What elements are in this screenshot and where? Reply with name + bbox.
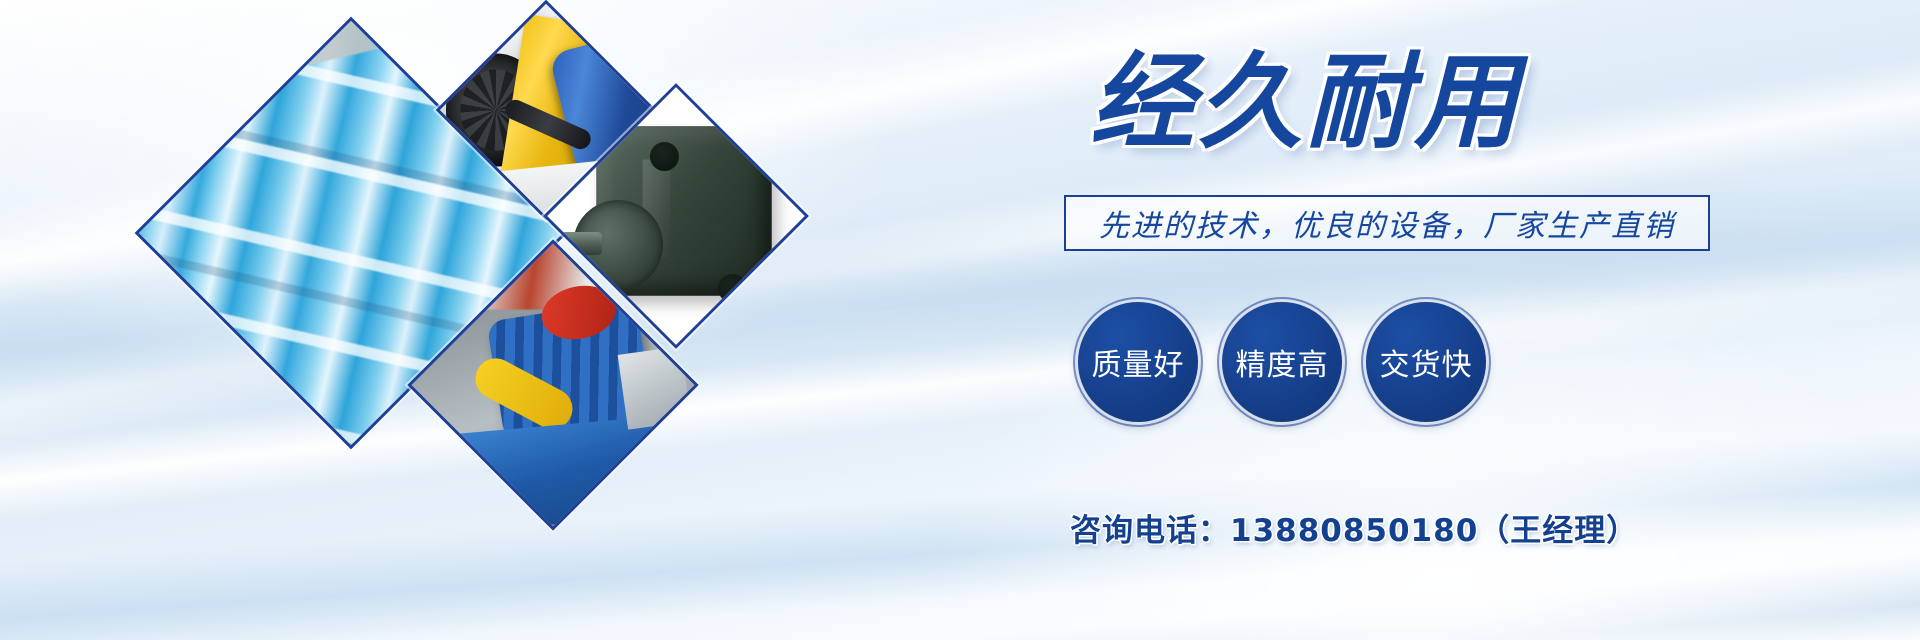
badge-quality-label: 质量好 bbox=[1092, 340, 1185, 384]
banner-headline: 经久耐用 bbox=[1090, 50, 1522, 154]
feature-badges: 质量好 精度高 交货快 bbox=[1060, 290, 1740, 440]
blue-tank-base bbox=[416, 414, 690, 531]
red-indicator-button bbox=[655, 437, 675, 454]
contact-phone-line: 咨询电话：13880850180（王经理） bbox=[1070, 505, 1638, 550]
badge-precision: 精度高 bbox=[1222, 302, 1342, 422]
badge-delivery: 交货快 bbox=[1366, 302, 1486, 422]
control-panel bbox=[618, 346, 692, 430]
banner-subtitle: 先进的技术，优良的设备，厂家生产直销 bbox=[1099, 201, 1675, 245]
product-photo-collage bbox=[150, 10, 890, 630]
badge-quality: 质量好 bbox=[1078, 302, 1198, 422]
badge-delivery-label: 交货快 bbox=[1380, 340, 1473, 384]
badge-precision-label: 精度高 bbox=[1236, 340, 1329, 384]
promo-banner: 经久耐用 先进的技术，优良的设备，厂家生产直销 质量好 精度高 交货快 咨询电话… bbox=[0, 0, 1920, 640]
pump-bolt-hole bbox=[718, 274, 747, 303]
banner-subtitle-box: 先进的技术，优良的设备，厂家生产直销 bbox=[1064, 195, 1710, 251]
red-indicator-button bbox=[655, 478, 675, 495]
banner-content: 经久耐用 先进的技术，优良的设备，厂家生产直销 质量好 精度高 交货快 咨询电话… bbox=[1060, 0, 1760, 640]
pump-bolt-hole bbox=[650, 142, 679, 171]
